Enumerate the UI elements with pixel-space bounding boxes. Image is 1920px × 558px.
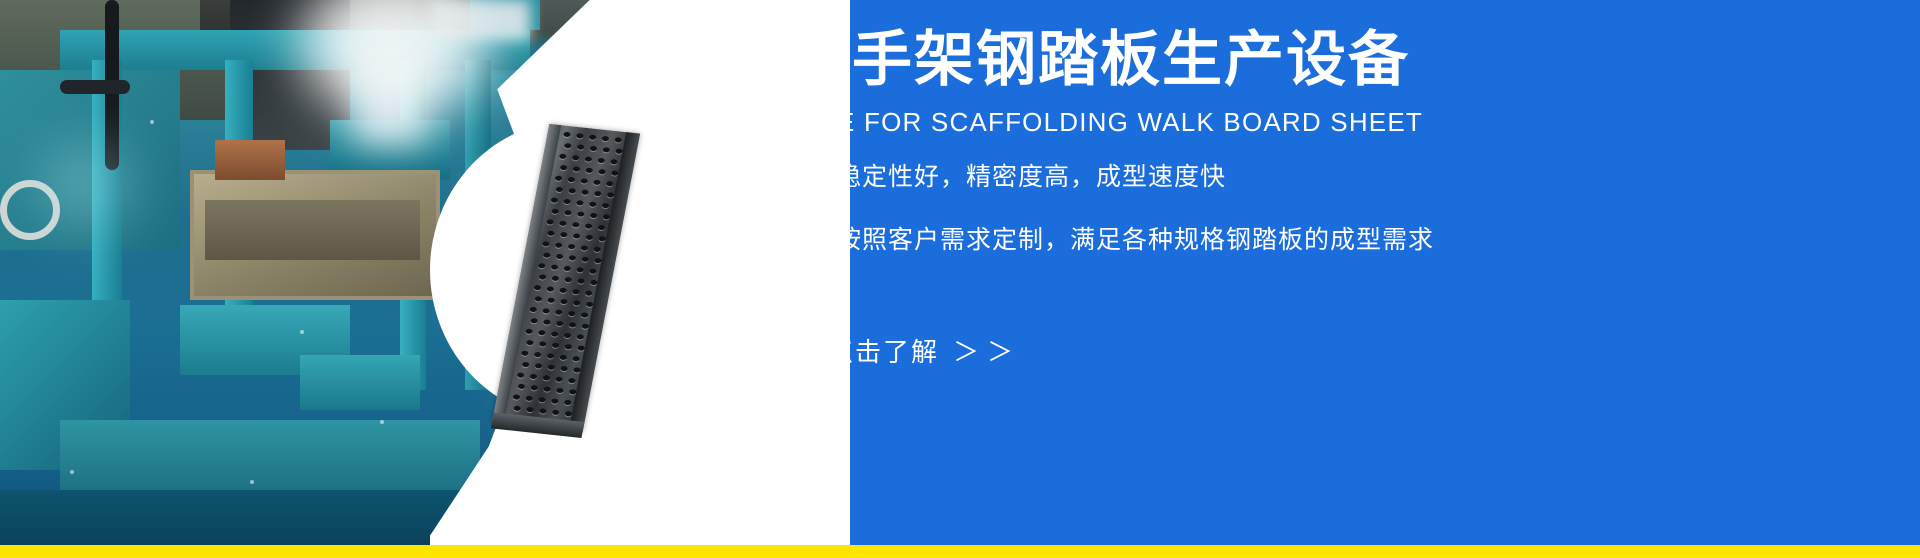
perforation-dot — [526, 407, 534, 413]
perforation-dot — [564, 143, 572, 149]
perforation-dot — [598, 236, 606, 242]
perforation-dot — [546, 286, 554, 292]
perforation-dot — [567, 177, 575, 183]
perforation-dot — [563, 132, 571, 138]
perforation-dot — [550, 197, 558, 203]
perforation-dot — [573, 300, 581, 306]
text-panel: 脚手架钢踏板生产设备 LINE FOR SCAFFOLDING WALK BOA… — [735, 0, 1920, 545]
perforation-dot — [530, 318, 538, 324]
perforation-dot — [538, 263, 546, 269]
perforation-dot — [572, 356, 580, 362]
perforation-dot — [539, 408, 547, 414]
perforation-dot — [572, 155, 580, 161]
perforation-dot — [585, 290, 593, 296]
perforation-dot — [564, 277, 572, 283]
perforation-dot — [542, 241, 550, 247]
perforation-dot — [555, 242, 563, 248]
perforation-dot — [529, 307, 537, 313]
perforation-dot — [547, 230, 555, 236]
machine-cable — [60, 80, 130, 94]
perforation-dot — [568, 311, 576, 317]
perforation-dot — [590, 280, 598, 286]
perforation-dot — [551, 398, 559, 404]
feature-text: 按照客户需求定制，满足各种规格钢踏板的成型需求 — [836, 228, 1434, 253]
perforation-dot — [560, 299, 568, 305]
perforation-dot — [581, 189, 589, 195]
machine-copper-block — [215, 140, 285, 180]
perforation-dot — [542, 375, 550, 381]
perforation-dot — [530, 385, 538, 391]
perforation-dot — [564, 344, 572, 350]
perforation-dot — [572, 222, 580, 228]
perforation-dot — [535, 363, 543, 369]
perforation-dot — [577, 144, 585, 150]
perforation-dot — [611, 170, 619, 176]
perforation-dot — [546, 219, 554, 225]
perforation-dot — [603, 214, 611, 220]
perforation-dot — [602, 147, 610, 153]
promo-banner: 脚手架钢踏板生产设备 LINE FOR SCAFFOLDING WALK BOA… — [0, 0, 1920, 558]
perforation-dot — [615, 148, 623, 154]
perforation-dot — [590, 146, 598, 152]
perforation-dot — [577, 278, 585, 284]
perforation-dot — [547, 364, 555, 370]
perforation-dot — [539, 341, 547, 347]
walk-board — [492, 124, 640, 432]
product-photo — [500, 128, 650, 438]
perforation-dot — [589, 134, 597, 140]
perforation-dot — [534, 296, 542, 302]
photo-speckle — [380, 420, 384, 424]
perforation-dot — [564, 210, 572, 216]
perforation-dot — [526, 340, 534, 346]
perforation-dot — [551, 209, 559, 215]
perforation-dot — [581, 312, 589, 318]
perforation-dot — [568, 255, 576, 261]
photo-speckle — [150, 120, 154, 124]
perforation-dot — [565, 411, 573, 417]
perforation-dot — [594, 191, 602, 197]
perforation-dot — [576, 334, 584, 340]
photo-speckle — [300, 330, 304, 334]
perforation-dot — [590, 213, 598, 219]
perforation-dot — [555, 175, 563, 181]
perforation-dot — [559, 355, 567, 361]
perforation-dot — [577, 345, 585, 351]
perforation-dot — [556, 321, 564, 327]
perforation-dot — [585, 168, 593, 174]
perforation-dot — [564, 333, 572, 339]
perforation-dot — [555, 187, 563, 193]
machine-base-shadow — [0, 490, 470, 545]
perforation-dot — [551, 331, 559, 337]
perforation-dot — [577, 211, 585, 217]
perforation-dot — [568, 188, 576, 194]
perforation-dot — [598, 169, 606, 175]
perforation-dot — [586, 301, 594, 307]
square-outline-icon — [793, 167, 814, 188]
page-subtitle: LINE FOR SCAFFOLDING WALK BOARD SHEET — [793, 107, 1423, 138]
perforation-dot — [559, 221, 567, 227]
perforation-dot — [614, 137, 622, 143]
perforation-dot — [556, 388, 564, 394]
perforation-dot — [543, 386, 551, 392]
perforation-dot — [559, 154, 567, 160]
feature-list: 稳定性好，精密度高，成型速度快 按照客户需求定制，满足各种规格钢踏板的成型需求 — [793, 165, 1893, 291]
perforation-dot — [517, 372, 525, 378]
perforation-dot — [560, 232, 568, 238]
perforation-dot — [564, 400, 572, 406]
perforation-dot — [551, 264, 559, 270]
perforation-dot — [525, 329, 533, 335]
perforation-dot — [581, 323, 589, 329]
perforation-dot — [560, 366, 568, 372]
perforation-dot — [589, 268, 597, 274]
perforation-dot — [525, 396, 533, 402]
perforation-dot — [589, 201, 597, 207]
chevron-right-icon: ＞＞ — [953, 332, 1021, 369]
perforation-dot — [607, 192, 615, 198]
perforation-dot — [573, 166, 581, 172]
perforation-dot — [580, 178, 588, 184]
photo-glare — [355, 25, 425, 145]
perforation-dot — [597, 225, 605, 231]
perforation-dot — [572, 289, 580, 295]
perforation-dot — [594, 258, 602, 264]
cta-link[interactable]: 点击了解 ＞＞ — [827, 332, 1021, 369]
perforation-dot — [597, 158, 605, 164]
perforation-dot — [555, 376, 563, 382]
perforation-dot — [552, 410, 560, 416]
perforation-dot — [576, 267, 584, 273]
perforation-dot — [576, 133, 584, 139]
perforation-dot — [585, 223, 593, 229]
perforation-dot — [556, 254, 564, 260]
perforation-dot — [602, 203, 610, 209]
feature-item: 按照客户需求定制，满足各种规格钢踏板的成型需求 — [793, 228, 1893, 253]
perforation-dot — [606, 181, 614, 187]
perforation-dot — [555, 309, 563, 315]
perforation-dot — [552, 343, 560, 349]
perforation-dot — [547, 297, 555, 303]
perforation-dot — [601, 136, 609, 142]
machine-die-slot — [205, 200, 420, 260]
perforation-dot — [559, 288, 567, 294]
perforation-dot — [593, 179, 601, 185]
perforation-dot — [542, 308, 550, 314]
photo-glare — [430, 0, 530, 40]
feature-item: 稳定性好，精密度高，成型速度快 — [793, 165, 1893, 190]
perforation-dot — [522, 362, 530, 368]
perforation-dot — [521, 350, 529, 356]
perforation-dot — [576, 200, 584, 206]
perforation-dot — [530, 374, 538, 380]
perforation-dot — [573, 233, 581, 239]
perforation-dot — [573, 367, 581, 373]
perforation-dot — [534, 285, 542, 291]
feature-text: 稳定性好，精密度高，成型速度快 — [836, 165, 1226, 190]
perforation-dot — [568, 244, 576, 250]
photo-highlight — [40, 140, 130, 230]
perforation-dot — [551, 276, 559, 282]
perforation-dot — [569, 389, 577, 395]
perforation-dot — [584, 156, 592, 162]
perforation-dot — [581, 256, 589, 262]
perforation-dot — [518, 384, 526, 390]
perforation-dot — [547, 353, 555, 359]
perforation-dot — [513, 405, 521, 411]
page-title: 脚手架钢踏板生产设备 — [790, 30, 1410, 90]
photo-speckle — [70, 470, 74, 474]
perforation-dot — [538, 330, 546, 336]
perforation-dot — [568, 378, 576, 384]
square-outline-icon — [793, 230, 814, 251]
photo-speckle — [250, 480, 254, 484]
perforation-dot — [543, 319, 551, 325]
perforation-dot — [580, 245, 588, 251]
perforation-dot — [534, 352, 542, 358]
accent-strip — [0, 545, 1920, 558]
perforation-dot — [585, 235, 593, 241]
perforation-dot — [543, 252, 551, 258]
perforation-dot — [593, 246, 601, 252]
perforation-dot — [560, 165, 568, 171]
perforation-dot — [610, 159, 618, 165]
perforation-dot — [563, 199, 571, 205]
perforation-dot — [563, 266, 571, 272]
perforation-dot — [539, 274, 547, 280]
perforation-dot — [538, 397, 546, 403]
cta-label: 点击了解 — [827, 332, 939, 369]
perforation-dot — [569, 322, 577, 328]
machine-part — [300, 355, 420, 410]
perforation-dot — [512, 394, 520, 400]
